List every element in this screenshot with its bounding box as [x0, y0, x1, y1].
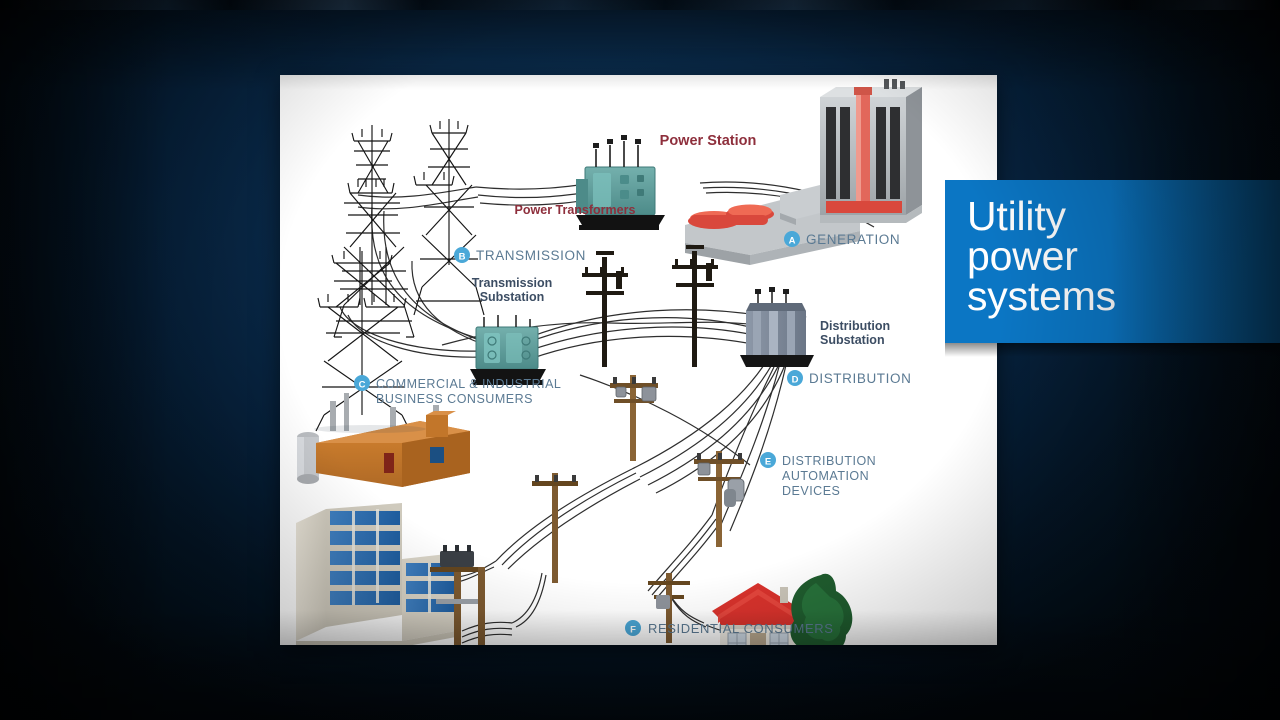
slide-panel: Power Station Power Transformers Transmi… — [280, 75, 997, 645]
badge-letter-a: A — [789, 236, 796, 247]
stage-badge-f[interactable]: F RESIDENTIAL CONSUMERS — [625, 620, 833, 636]
label-distribution-substation-line2: Substation — [820, 333, 885, 347]
stage-label-e-line3: DEVICES — [782, 484, 840, 498]
stage-label-a: GENERATION — [806, 232, 900, 247]
badge-letter-e: E — [765, 457, 771, 468]
label-power-transformers: Power Transformers — [515, 203, 636, 217]
label-transmission-substation-line2: Substation — [480, 290, 545, 304]
title-banner: Utility power systems — [945, 180, 1280, 343]
banner-title-line3: systems — [967, 276, 1280, 316]
label-power-station: Power Station — [660, 133, 757, 149]
badge-letter-b: B — [459, 252, 466, 263]
badge-letter-c: C — [359, 380, 366, 391]
stage-label-e-line2: AUTOMATION — [782, 469, 869, 483]
stage-badge-c[interactable]: C COMMERCIAL & INDUSTRIAL BUSINESS CONSU… — [354, 375, 561, 406]
stage-label-c-line1: COMMERCIAL & INDUSTRIAL — [376, 377, 561, 391]
banner-title-line1: Utility — [967, 196, 1280, 236]
presentation-slide-viewport: Power Station Power Transformers Transmi… — [0, 0, 1280, 720]
stage-label-c-line2: BUSINESS CONSUMERS — [376, 392, 533, 406]
stage-label-d: DISTRIBUTION — [809, 371, 911, 386]
banner-title-line2: power — [967, 236, 1280, 276]
stage-label-f: RESIDENTIAL CONSUMERS — [648, 621, 833, 636]
label-transmission-substation-line1: Transmission — [472, 276, 553, 290]
top-edge-artifact-strip — [0, 0, 1280, 10]
label-distribution-substation-line1: Distribution — [820, 319, 890, 333]
stage-label-e-line1: DISTRIBUTION — [782, 454, 876, 468]
badge-letter-f: F — [630, 625, 636, 636]
stage-label-b: TRANSMISSION — [476, 248, 586, 263]
badge-letter-d: D — [792, 375, 799, 386]
banner-title: Utility power systems — [945, 180, 1280, 316]
